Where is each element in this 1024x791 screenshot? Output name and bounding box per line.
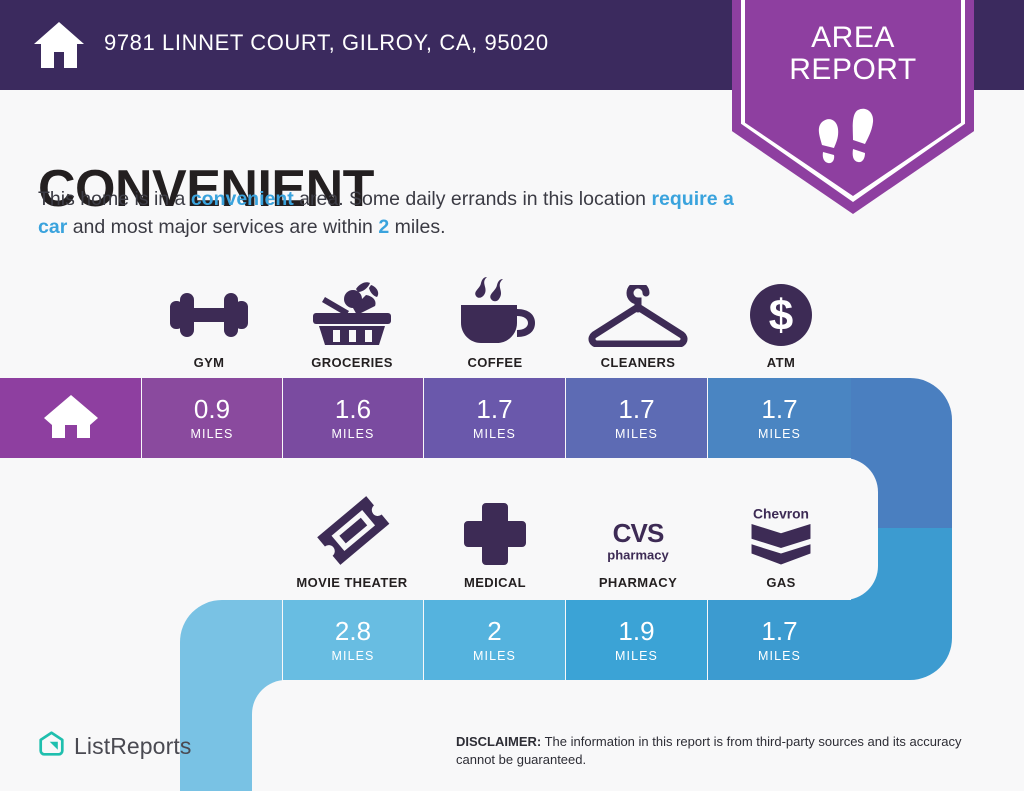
category-label: CLEANERS bbox=[567, 355, 709, 370]
distance-unit: MILES bbox=[331, 427, 374, 441]
distance-segment-movie-theater: 2.8 MILES bbox=[283, 600, 423, 680]
listreports-house-icon bbox=[38, 730, 65, 762]
category-label: MOVIE THEATER bbox=[281, 575, 423, 590]
lede-text-1: This home is in a bbox=[38, 188, 191, 210]
badge-line-2: REPORT bbox=[732, 54, 974, 86]
property-address: 9781 LINNET COURT, GILROY, CA, 95020 bbox=[104, 30, 549, 56]
svg-text:Chevron: Chevron bbox=[753, 506, 809, 522]
category-label: COFFEE bbox=[424, 355, 566, 370]
category-movie-theater: MOVIE THEATER bbox=[281, 495, 423, 590]
category-medical: MEDICAL bbox=[424, 495, 566, 590]
distance-segment-atm: 1.7 MILES bbox=[708, 378, 851, 458]
dollar-circle-icon: $ bbox=[710, 275, 852, 347]
category-cleaners: CLEANERS bbox=[567, 275, 709, 370]
distance-unit: MILES bbox=[190, 427, 233, 441]
house-icon bbox=[33, 20, 85, 70]
disclaimer-label: DISCLAIMER: bbox=[456, 734, 541, 749]
lede-text-2: area. Some daily errands in this locatio… bbox=[294, 188, 652, 210]
ticket-icon bbox=[281, 495, 423, 567]
chevron-logo: Chevron bbox=[710, 495, 852, 567]
svg-text:pharmacy: pharmacy bbox=[607, 547, 669, 562]
lede-text-4: miles. bbox=[389, 216, 445, 238]
distance-value: 1.7 bbox=[476, 396, 512, 422]
svg-text:CVS: CVS bbox=[613, 518, 664, 548]
distance-unit: MILES bbox=[758, 427, 801, 441]
distance-unit: MILES bbox=[615, 427, 658, 441]
category-gym: GYM bbox=[138, 275, 280, 370]
badge-title: AREA REPORT bbox=[732, 22, 974, 86]
distance-value: 1.6 bbox=[335, 396, 371, 422]
listreports-wordmark: ListReports bbox=[74, 733, 191, 760]
home-marker-segment bbox=[0, 378, 141, 458]
bar2-inner-notch-left bbox=[252, 680, 372, 791]
coffee-cup-icon bbox=[424, 275, 566, 347]
category-gas: Chevron GAS bbox=[710, 495, 852, 590]
distance-value: 2 bbox=[487, 618, 501, 644]
distance-segment-gas: 1.7 MILES bbox=[708, 600, 851, 680]
distance-value: 1.7 bbox=[761, 618, 797, 644]
listreports-brand: ListReports bbox=[38, 730, 191, 762]
footprints-icon bbox=[812, 108, 894, 164]
house-icon bbox=[43, 392, 99, 445]
category-coffee: COFFEE bbox=[424, 275, 566, 370]
badge-line-1: AREA bbox=[732, 22, 974, 54]
dumbbell-icon bbox=[138, 275, 280, 347]
category-label: GROCERIES bbox=[281, 355, 423, 370]
distance-segment-cleaners: 1.7 MILES bbox=[566, 378, 707, 458]
distance-segment-medical: 2 MILES bbox=[424, 600, 565, 680]
lede-highlight-3: 2 bbox=[378, 216, 389, 238]
svg-text:$: $ bbox=[769, 291, 793, 340]
category-atm: $ ATM bbox=[710, 275, 852, 370]
distance-value: 1.7 bbox=[761, 396, 797, 422]
category-pharmacy: CVS pharmacy PHARMACY bbox=[567, 495, 709, 590]
distance-value: 1.7 bbox=[618, 396, 654, 422]
distance-value: 2.8 bbox=[335, 618, 371, 644]
category-label: PHARMACY bbox=[567, 575, 709, 590]
hanger-icon bbox=[567, 275, 709, 347]
distance-segment-coffee: 1.7 MILES bbox=[424, 378, 565, 458]
distance-unit: MILES bbox=[758, 649, 801, 663]
distance-unit: MILES bbox=[473, 649, 516, 663]
area-report-page: 9781 LINNET COURT, GILROY, CA, 95020 ARE… bbox=[0, 0, 1024, 791]
basket-icon bbox=[281, 275, 423, 347]
distance-segment-pharmacy: 1.9 MILES bbox=[566, 600, 707, 680]
medical-cross-icon bbox=[424, 495, 566, 567]
category-label: ATM bbox=[710, 355, 852, 370]
distance-segment-groceries: 1.6 MILES bbox=[283, 378, 423, 458]
cvs-pharmacy-logo: CVS pharmacy bbox=[567, 495, 709, 567]
page-subtitle: This home is in a convenient area. Some … bbox=[38, 186, 738, 241]
distance-unit: MILES bbox=[473, 427, 516, 441]
lede-text-3: and most major services are within bbox=[67, 216, 378, 238]
distance-unit: MILES bbox=[331, 649, 374, 663]
distance-value: 1.9 bbox=[618, 618, 654, 644]
distance-segment-gym: 0.9 MILES bbox=[142, 378, 282, 458]
disclaimer: DISCLAIMER: The information in this repo… bbox=[456, 733, 996, 770]
lede-highlight-1: convenient bbox=[191, 188, 294, 210]
distance-unit: MILES bbox=[615, 649, 658, 663]
category-label: MEDICAL bbox=[424, 575, 566, 590]
distance-value: 0.9 bbox=[194, 396, 230, 422]
category-label: GAS bbox=[710, 575, 852, 590]
category-label: GYM bbox=[138, 355, 280, 370]
category-groceries: GROCERIES bbox=[281, 275, 423, 370]
